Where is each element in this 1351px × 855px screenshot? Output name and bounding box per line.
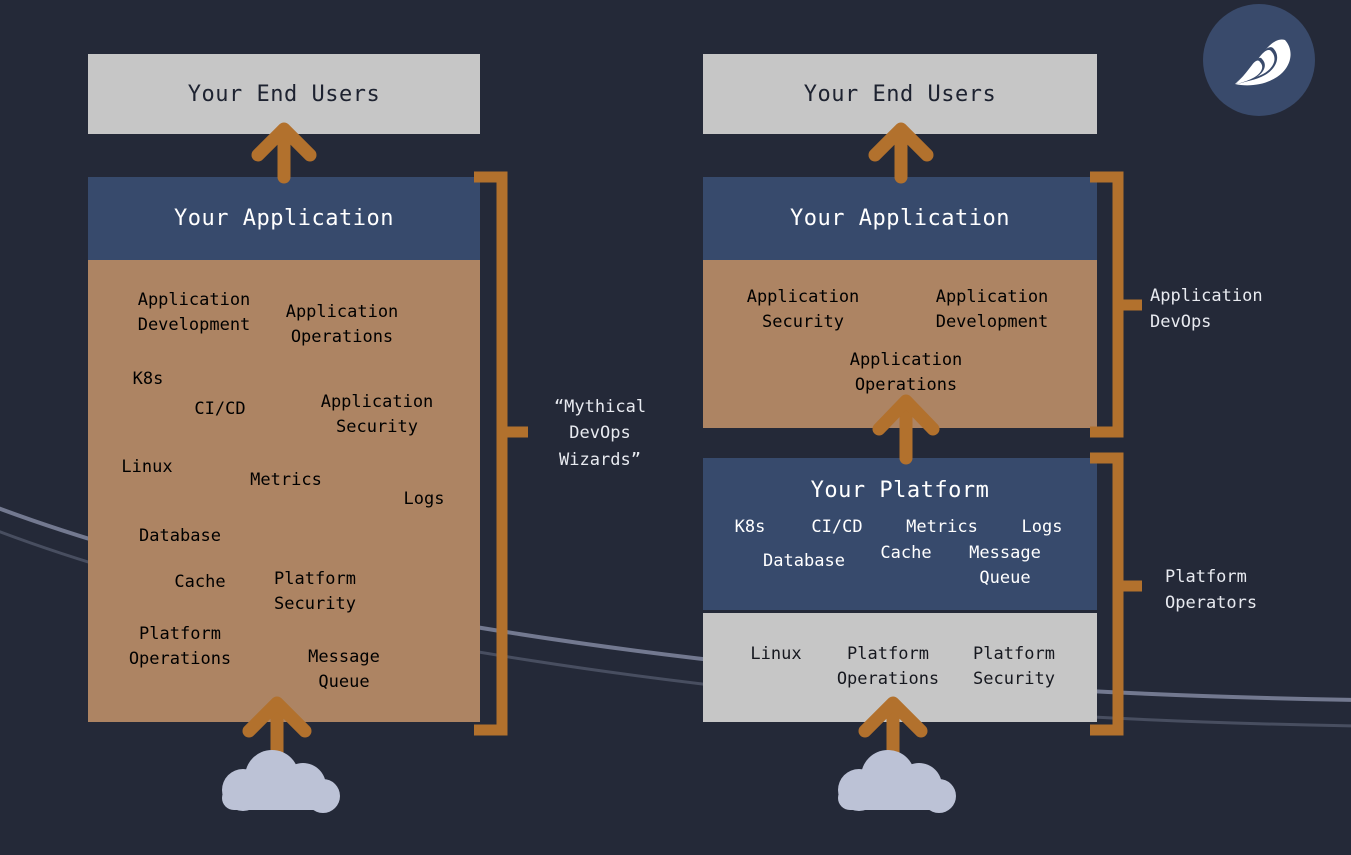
left-stack-item-5: Linux [112, 455, 182, 480]
left-stack-item-11: Platform Operations [118, 622, 242, 671]
right-platform-item-6: Message Queue [952, 541, 1058, 590]
left-stack-item-6: Metrics [240, 468, 332, 493]
shell-wave-logo [1203, 4, 1315, 116]
right-platform-item-3: Logs [1012, 515, 1072, 540]
application-devops-label: Application DevOps [1150, 283, 1330, 336]
left-stack-item-1: Application Operations [272, 300, 412, 349]
mythical-devops-wizards-label: “Mythical DevOps Wizards” [520, 394, 680, 473]
platform-operators-bracket [1090, 458, 1142, 730]
right-app-item-2: Application Operations [835, 348, 977, 397]
left-end-users-label: Your End Users [188, 82, 380, 107]
left-stack-item-2: K8s [118, 367, 178, 392]
left-stack-item-10: Platform Security [265, 567, 365, 616]
right-platform-item-1: CI/CD [800, 515, 874, 540]
right-infra-item-2: Platform Security [958, 642, 1070, 691]
right-end-users-label: Your End Users [804, 82, 996, 107]
left-your-application-label: Your Application [174, 206, 394, 231]
brand-logo [1203, 4, 1315, 116]
cloud-icon [838, 750, 956, 813]
right-app-item-0: Application Security [733, 285, 873, 334]
arrow-up-icon [258, 129, 310, 177]
right-infra-item-0: Linux [738, 642, 814, 667]
platform-operators-label: Platform Operators [1165, 564, 1345, 617]
left-stack-item-9: Cache [162, 570, 238, 595]
left-stack-item-0: Application Development [124, 288, 264, 337]
right-app-item-1: Application Development [920, 285, 1064, 334]
right-platform-item-2: Metrics [896, 515, 988, 540]
right-platform-item-0: K8s [722, 515, 778, 540]
left-stack-item-7: Logs [396, 487, 452, 512]
left-end-users-box: Your End Users [88, 54, 480, 134]
right-infra-item-1: Platform Operations [824, 642, 952, 691]
right-your-application-label: Your Application [790, 206, 1010, 231]
right-platform-item-5: Cache [870, 541, 942, 566]
right-your-platform-label: Your Platform [703, 478, 1097, 503]
right-your-application-box: Your Application [703, 177, 1097, 260]
application-devops-bracket [1090, 177, 1142, 432]
left-stack-item-8: Database [130, 524, 230, 549]
cloud-icon [222, 750, 340, 813]
left-your-application-box: Your Application [88, 177, 480, 260]
left-stack-item-3: CI/CD [180, 397, 260, 422]
left-stack-item-12: Message Queue [296, 645, 392, 694]
right-end-users-box: Your End Users [703, 54, 1097, 134]
arrow-up-icon [875, 129, 927, 177]
diagram-canvas: Your End Users Your Application Applicat… [0, 0, 1351, 855]
left-stack-item-4: Application Security [307, 390, 447, 439]
right-platform-item-4: Database [748, 549, 860, 574]
